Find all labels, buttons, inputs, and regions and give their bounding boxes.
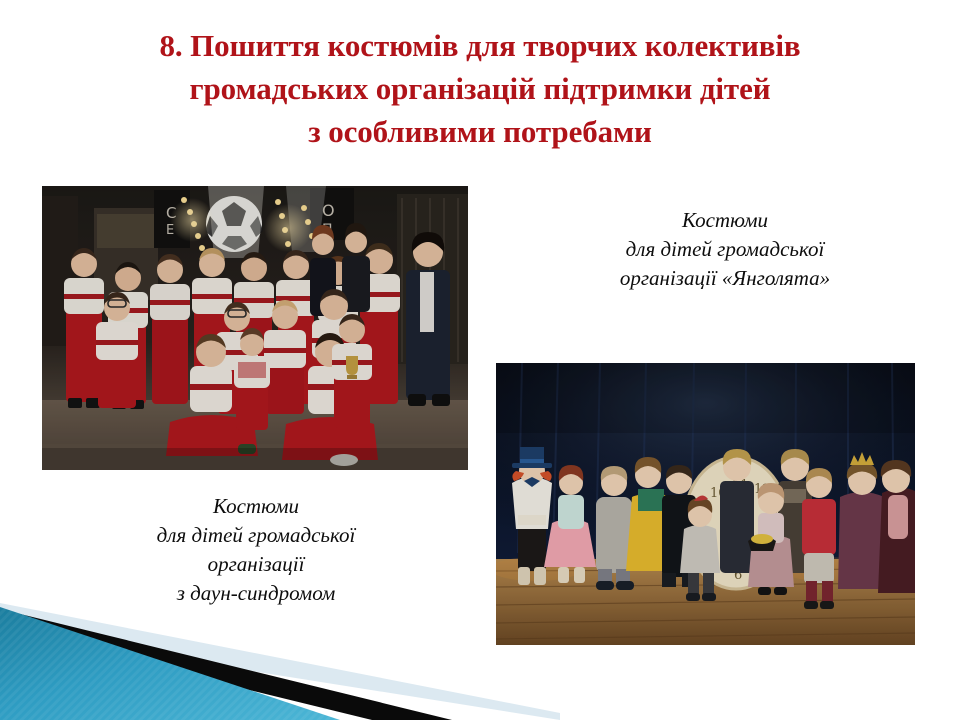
photo-children-embroidered-shirts: С Е О П <box>42 186 468 470</box>
right-photo-graphic: 10 11 12 1 7 6 <box>496 363 915 645</box>
photo-theatre-costumes: 10 11 12 1 7 6 <box>496 363 915 645</box>
left-photo-graphic: С Е О П <box>42 186 468 470</box>
caption-yangolyata: Костюми для дітей громадської організаці… <box>540 206 910 293</box>
page-title: 8. Пошиття костюмів для творчих колектив… <box>0 24 960 153</box>
slide-canvas: 8. Пошиття костюмів для творчих колектив… <box>0 0 960 720</box>
corner-banner-graphic <box>0 595 560 720</box>
caption-down-syndrome: Костюми для дітей громадської організаці… <box>60 492 452 608</box>
bottom-left-corner-banner <box>0 595 560 720</box>
